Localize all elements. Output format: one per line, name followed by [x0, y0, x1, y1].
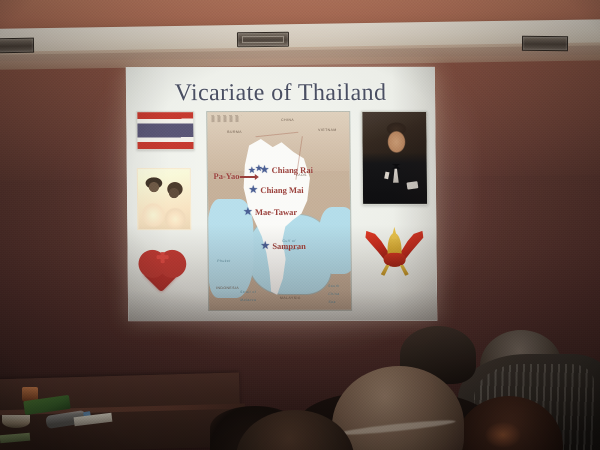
map-sea-label: Strait of [240, 290, 256, 294]
garuda-chest [384, 253, 406, 267]
map-city-marker: Mae-Tawar [248, 207, 297, 217]
map-city-marker: Chiang Rai [265, 165, 313, 175]
map-city-name: Sampran [272, 241, 306, 251]
map-sea-label: Malacca [240, 298, 256, 302]
cross-icon [161, 252, 165, 263]
ceiling-vent-center-icon [237, 32, 289, 47]
map-country-label: VIETNAM [318, 128, 337, 132]
garuda-leg-right [400, 265, 409, 276]
traditional-dress-photo [137, 168, 192, 230]
map-city-marker: Sampran [265, 241, 306, 251]
map-country-label: MALAYSIA [280, 296, 301, 300]
slide-left-column [136, 111, 200, 290]
map-city-name: Chiang Mai [260, 185, 303, 195]
map-sea-label: Phuket [217, 259, 231, 263]
slide-body: CHINABURMAVIETNAMLAOSINDONESIAMALAYSIA G… [136, 111, 429, 315]
ceiling-vent-left-icon [0, 38, 34, 54]
map-city-name: Chiang Rai [272, 165, 313, 175]
map-sea-label: China [328, 292, 339, 296]
map-country-label: BURMA [227, 130, 242, 134]
map-country-label: INDONESIA [216, 286, 239, 290]
map-city-marker: Chiang Mai [253, 185, 303, 195]
thailand-flag-icon [136, 111, 194, 150]
pocket-square [406, 181, 418, 189]
map-sea-label: Sea [328, 300, 336, 304]
map-pointer-arrow-icon [239, 176, 255, 178]
garuda-leg-left [381, 265, 390, 276]
thailand-map: CHINABURMAVIETNAMLAOSINDONESIAMALAYSIA G… [206, 111, 352, 311]
map-city-name: Mae-Tawar [255, 207, 297, 217]
garuda-emblem-icon [365, 227, 424, 279]
map-city-name: Pa-Yao [213, 171, 239, 181]
map-country-label: CHINA [281, 118, 294, 122]
map-south-china-sea [319, 207, 352, 274]
map-city-marker: Pa-Yao [213, 171, 239, 181]
map-scale-bar [211, 115, 241, 122]
slide-surface: Vicariate of Thailand [126, 67, 437, 321]
king-portrait-photo [361, 111, 428, 205]
sacred-heart-icon [145, 252, 181, 290]
shirt-collar [390, 167, 402, 183]
lapel-pin [384, 172, 389, 180]
ceiling-vent-right-icon [522, 36, 568, 51]
projection-screen: Vicariate of Thailand [126, 67, 437, 321]
bowtie-icon [392, 164, 401, 169]
slide-title: Vicariate of Thailand [126, 80, 435, 107]
map-sea-label: South [328, 284, 339, 288]
photo-scene: Vicariate of Thailand [0, 0, 600, 450]
slide-right-column [361, 111, 429, 279]
